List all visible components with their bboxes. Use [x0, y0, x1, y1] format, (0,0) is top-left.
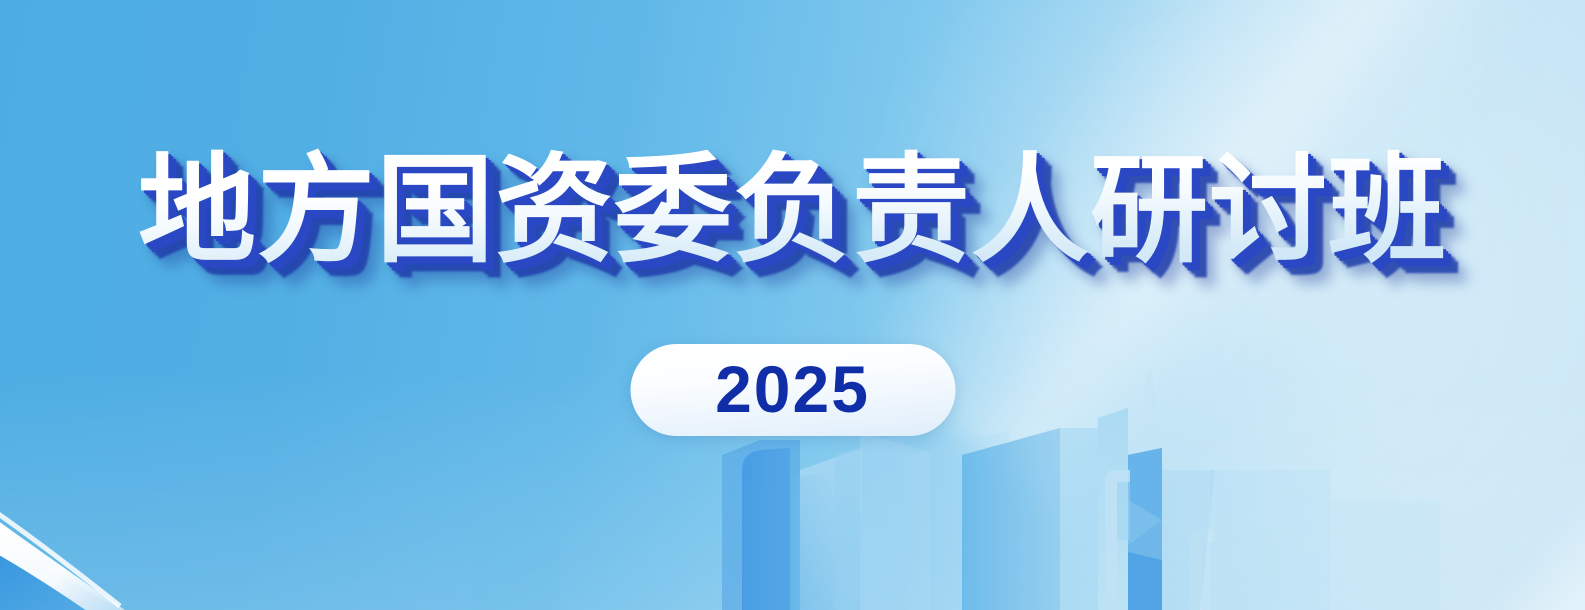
light-glow: [845, 0, 1585, 610]
year-badge: 2025: [630, 344, 955, 436]
page-title: 地方国资委负责人研讨班: [138, 143, 1447, 278]
city-skyline-silhouette: [0, 0, 1585, 610]
diagonal-light-streak-top: [855, 0, 1585, 558]
diagonal-light-streak-bottom: [1454, 328, 1585, 610]
title-container: 地方国资委负责人研讨班: [0, 143, 1585, 278]
event-banner: 地方国资委负责人研讨班 2025: [0, 0, 1585, 610]
year-badge-label: 2025: [715, 356, 870, 422]
corner-swoosh-ribbon: [0, 410, 330, 610]
